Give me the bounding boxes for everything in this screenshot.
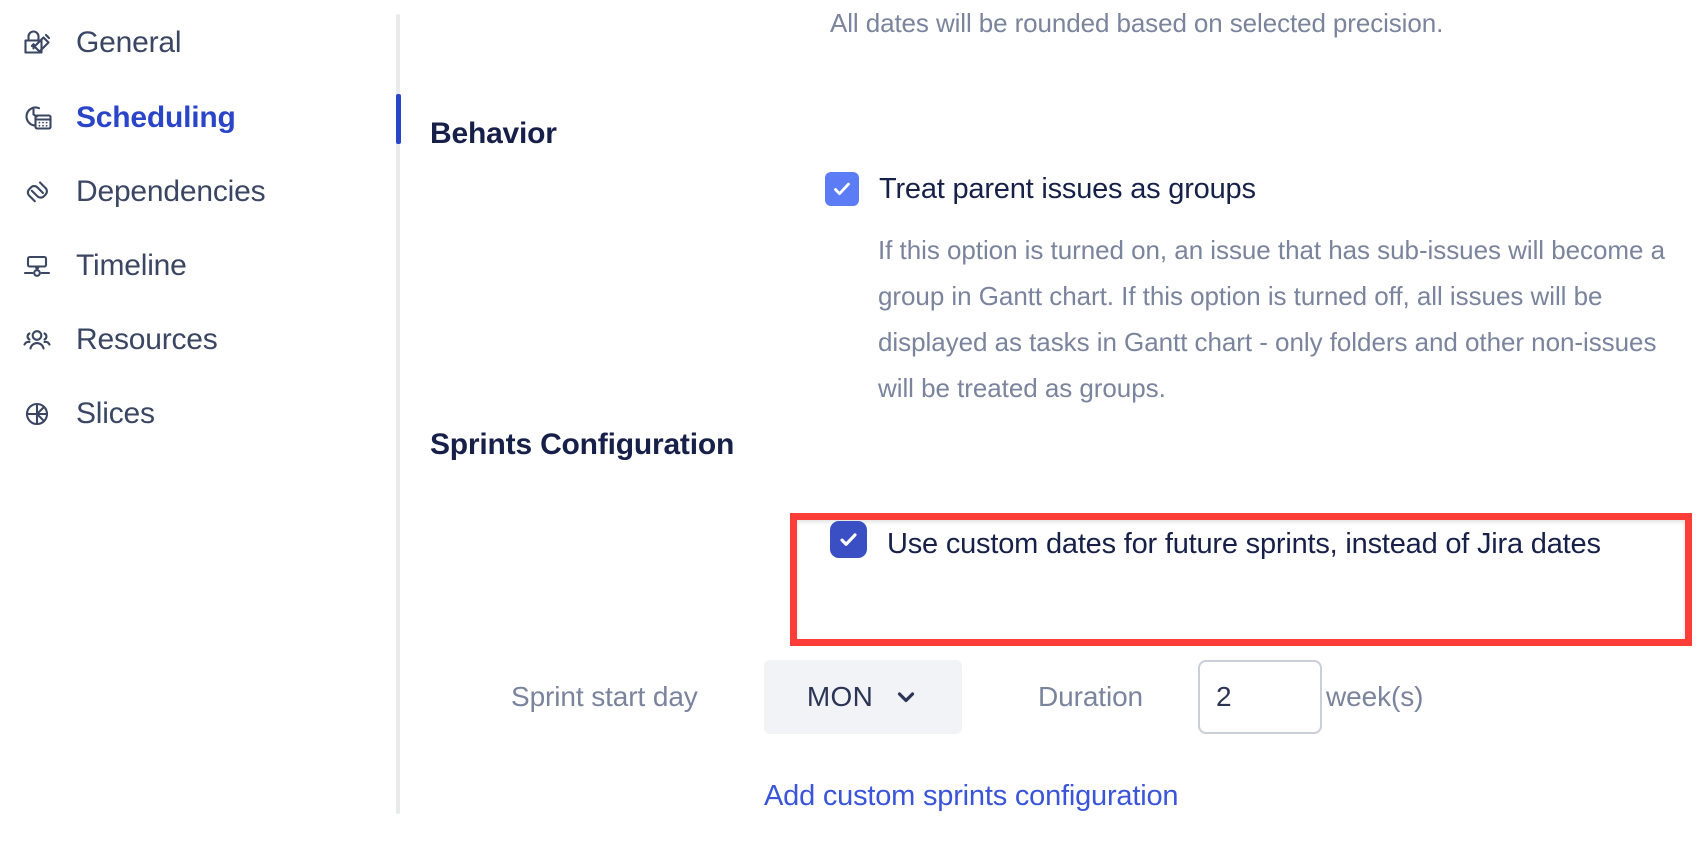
add-custom-sprints-configuration-link[interactable]: Add custom sprints configuration: [764, 780, 1178, 813]
treat-parent-issues-row[interactable]: Treat parent issues as groups: [825, 172, 1256, 206]
duration-input[interactable]: [1198, 660, 1322, 734]
sidebar-item-general[interactable]: General: [18, 17, 181, 69]
settings-content: All dates will be rounded based on selec…: [398, 0, 1704, 856]
lock-edit-icon: [18, 24, 56, 62]
duration-label: Duration: [1038, 660, 1143, 734]
pie-slice-icon: [18, 395, 56, 433]
duration-unit-label: week(s): [1326, 660, 1423, 734]
clock-calendar-icon: [18, 99, 56, 137]
sidebar-item-dependencies[interactable]: Dependencies: [18, 166, 265, 218]
use-custom-dates-checkbox[interactable]: [830, 521, 867, 558]
sprint-start-day-label: Sprint start day: [511, 660, 698, 734]
sprints-configuration-heading: Sprints Configuration: [430, 428, 734, 462]
link-chain-icon: [18, 173, 56, 211]
timeline-icon: [18, 247, 56, 285]
people-group-icon: [18, 321, 56, 359]
sprint-start-day-value: MON: [807, 681, 873, 713]
settings-page: General Scheduling: [0, 0, 1704, 856]
sidebar-item-label: Scheduling: [76, 101, 236, 135]
chevron-down-icon: [893, 684, 919, 710]
sidebar-item-slices[interactable]: Slices: [18, 388, 155, 440]
sprint-start-day-select[interactable]: MON: [764, 660, 962, 734]
sidebar-item-timeline[interactable]: Timeline: [18, 240, 187, 292]
use-custom-dates-label: Use custom dates for future sprints, ins…: [887, 521, 1643, 567]
treat-parent-issues-checkbox[interactable]: [825, 172, 859, 206]
sidebar-item-resources[interactable]: Resources: [18, 314, 218, 366]
sidebar-item-label: Resources: [76, 323, 218, 357]
behavior-description: If this option is turned on, an issue th…: [878, 227, 1678, 411]
sidebar-item-label: Dependencies: [76, 175, 265, 209]
precision-note: All dates will be rounded based on selec…: [830, 8, 1443, 39]
treat-parent-issues-label: Treat parent issues as groups: [879, 172, 1256, 206]
settings-sidebar: General Scheduling: [0, 0, 398, 856]
sidebar-item-scheduling[interactable]: Scheduling: [18, 92, 236, 144]
sidebar-item-label: Slices: [76, 397, 155, 431]
sidebar-item-label: General: [76, 26, 181, 60]
custom-dates-row[interactable]: Use custom dates for future sprints, ins…: [830, 521, 1650, 567]
sidebar-item-label: Timeline: [76, 249, 187, 283]
behavior-heading: Behavior: [430, 117, 557, 151]
